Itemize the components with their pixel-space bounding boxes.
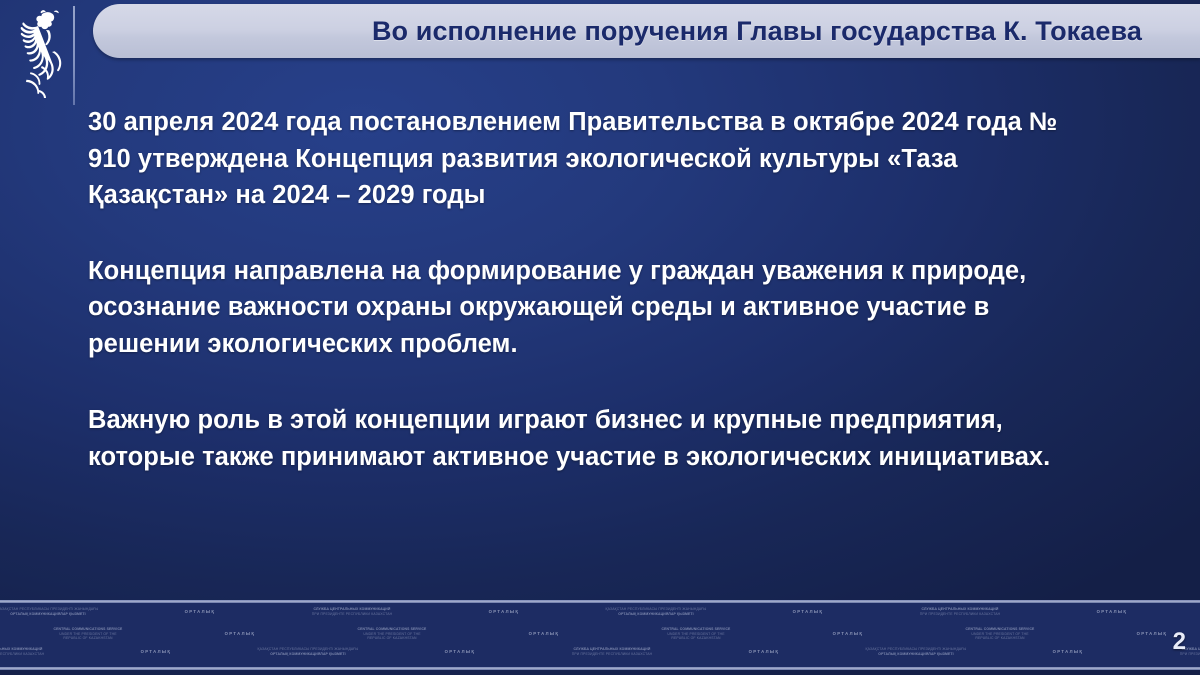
- page-title: Во исполнение поручения Главы государств…: [372, 16, 1142, 47]
- body-paragraph-2: Концепция направлена на формирование у г…: [88, 253, 1098, 363]
- presentation-slide: Во исполнение поручения Главы государств…: [0, 0, 1200, 675]
- watermark-mark: ОРТАЛЫҚ: [428, 609, 580, 614]
- watermark-block-kk: ҚАЗАҚСТАН РЕСПУБЛИКАСЫ ПРЕЗИДЕНТІ ЖАНЫНД…: [1188, 607, 1200, 616]
- snow-leopard-emblem: [8, 6, 68, 98]
- watermark-block-ru: СЛУЖБА ЦЕНТРАЛЬНЫХ КОММУНИКАЦИЙ ПРИ ПРЕЗ…: [0, 647, 80, 656]
- watermark-mark: ОРТАЛЫҚ: [124, 609, 276, 614]
- body-paragraph-3: Важную роль в этой концепции играют бизн…: [88, 402, 1098, 475]
- watermark-mark: ОРТАЛЫҚ: [772, 631, 924, 636]
- footer-watermark-band: ҚАЗАҚСТАН РЕСПУБЛИКАСЫ ПРЕЗИДЕНТІ ЖАНЫНД…: [0, 603, 1200, 667]
- watermark-pattern: ҚАЗАҚСТАН РЕСПУБЛИКАСЫ ПРЕЗИДЕНТІ ЖАНЫНД…: [0, 603, 1200, 667]
- footer-bottom-rule: [0, 667, 1200, 670]
- watermark-block-en: CENTRAL COMMUNICATIONS SERVICE UNDER THE…: [316, 627, 468, 641]
- watermark-block-ru: СЛУЖБА ЦЕНТРАЛЬНЫХ КОММУНИКАЦИЙ ПРИ ПРЕЗ…: [884, 607, 1036, 616]
- watermark-block-en: CENTRAL COMMUNICATIONS SERVICE UNDER THE…: [924, 627, 1076, 641]
- watermark-block-ru: СЛУЖБА ЦЕНТРАЛЬНЫХ КОММУНИКАЦИЙ ПРИ ПРЕЗ…: [276, 607, 428, 616]
- watermark-mark: ОРТАЛЫҚ: [468, 631, 620, 636]
- watermark-mark: ОРТАЛЫҚ: [992, 649, 1144, 654]
- watermark-mark: ОРТАЛЫҚ: [688, 649, 840, 654]
- watermark-block-en: CENTRAL COMMUNICATIONS SERVICE UNDER THE…: [620, 627, 772, 641]
- watermark-mark: ОРТАЛЫҚ: [384, 649, 536, 654]
- slide-title-bar: Во исполнение поручения Главы государств…: [93, 4, 1200, 58]
- watermark-mark: ОРТАЛЫҚ: [1036, 609, 1188, 614]
- header-vertical-divider: [73, 6, 75, 105]
- watermark-block-en: CENTRAL COMMUNICATIONS SERVICE UNDER THE…: [12, 627, 164, 641]
- body-paragraph-1: 30 апреля 2024 года постановлением Прави…: [88, 104, 1098, 214]
- watermark-mark: ОРТАЛЫҚ: [80, 649, 232, 654]
- watermark-mark: ОРТАЛЫҚ: [164, 631, 316, 636]
- watermark-row: СЛУЖБА ЦЕНТРАЛЬНЫХ КОММУНИКАЦИЙ ПРИ ПРЕЗ…: [0, 647, 1200, 656]
- watermark-mark: ОРТАЛЫҚ: [732, 609, 884, 614]
- watermark-block-kk: ҚАЗАҚСТАН РЕСПУБЛИКАСЫ ПРЕЗИДЕНТІ ЖАНЫНД…: [580, 607, 732, 616]
- watermark-block-kk: ҚАЗАҚСТАН РЕСПУБЛИКАСЫ ПРЕЗИДЕНТІ ЖАНЫНД…: [840, 647, 992, 656]
- watermark-block-kk: ҚАЗАҚСТАН РЕСПУБЛИКАСЫ ПРЕЗИДЕНТІ ЖАНЫНД…: [0, 607, 124, 616]
- watermark-block-ru: СЛУЖБА ЦЕНТРАЛЬНЫХ КОММУНИКАЦИЙ ПРИ ПРЕЗ…: [536, 647, 688, 656]
- page-number: 2: [1173, 628, 1186, 656]
- slide-body: 30 апреля 2024 года постановлением Прави…: [88, 104, 1098, 475]
- watermark-row: ОРТАЛЫҚ CENTRAL COMMUNICATIONS SERVICE U…: [0, 627, 1200, 641]
- watermark-block-kk: ҚАЗАҚСТАН РЕСПУБЛИКАСЫ ПРЕЗИДЕНТІ ЖАНЫНД…: [232, 647, 384, 656]
- watermark-mark: ОРТАЛЫҚ: [0, 631, 12, 636]
- watermark-row: ҚАЗАҚСТАН РЕСПУБЛИКАСЫ ПРЕЗИДЕНТІ ЖАНЫНД…: [0, 607, 1200, 616]
